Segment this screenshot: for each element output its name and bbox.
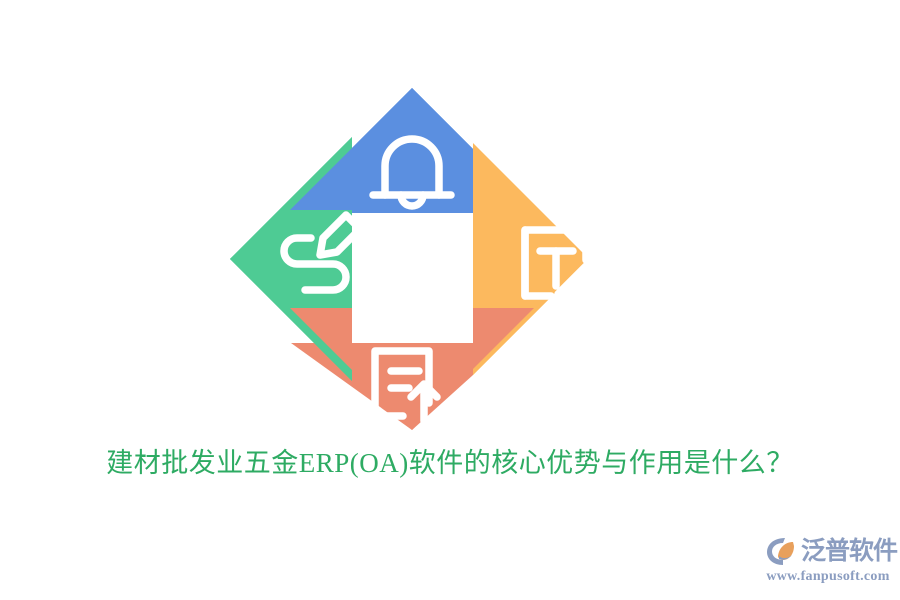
watermark-row: 泛普软件 — [766, 534, 890, 568]
page-canvas: 建材批发业五金ERP(OA)软件的核心优势与作用是什么？ 泛普软件 www.fa… — [0, 0, 900, 600]
brand-name: 泛普软件 — [801, 536, 897, 566]
page-title: 建材批发业五金ERP(OA)软件的核心优势与作用是什么？ — [0, 443, 900, 483]
brand-watermark: 泛普软件 www.fanpusoft.com — [766, 534, 890, 588]
brand-url: www.fanpusoft.com — [766, 569, 890, 585]
oa-pinwheel-graphic — [225, 83, 595, 435]
fanpu-logo-icon — [766, 536, 798, 566]
